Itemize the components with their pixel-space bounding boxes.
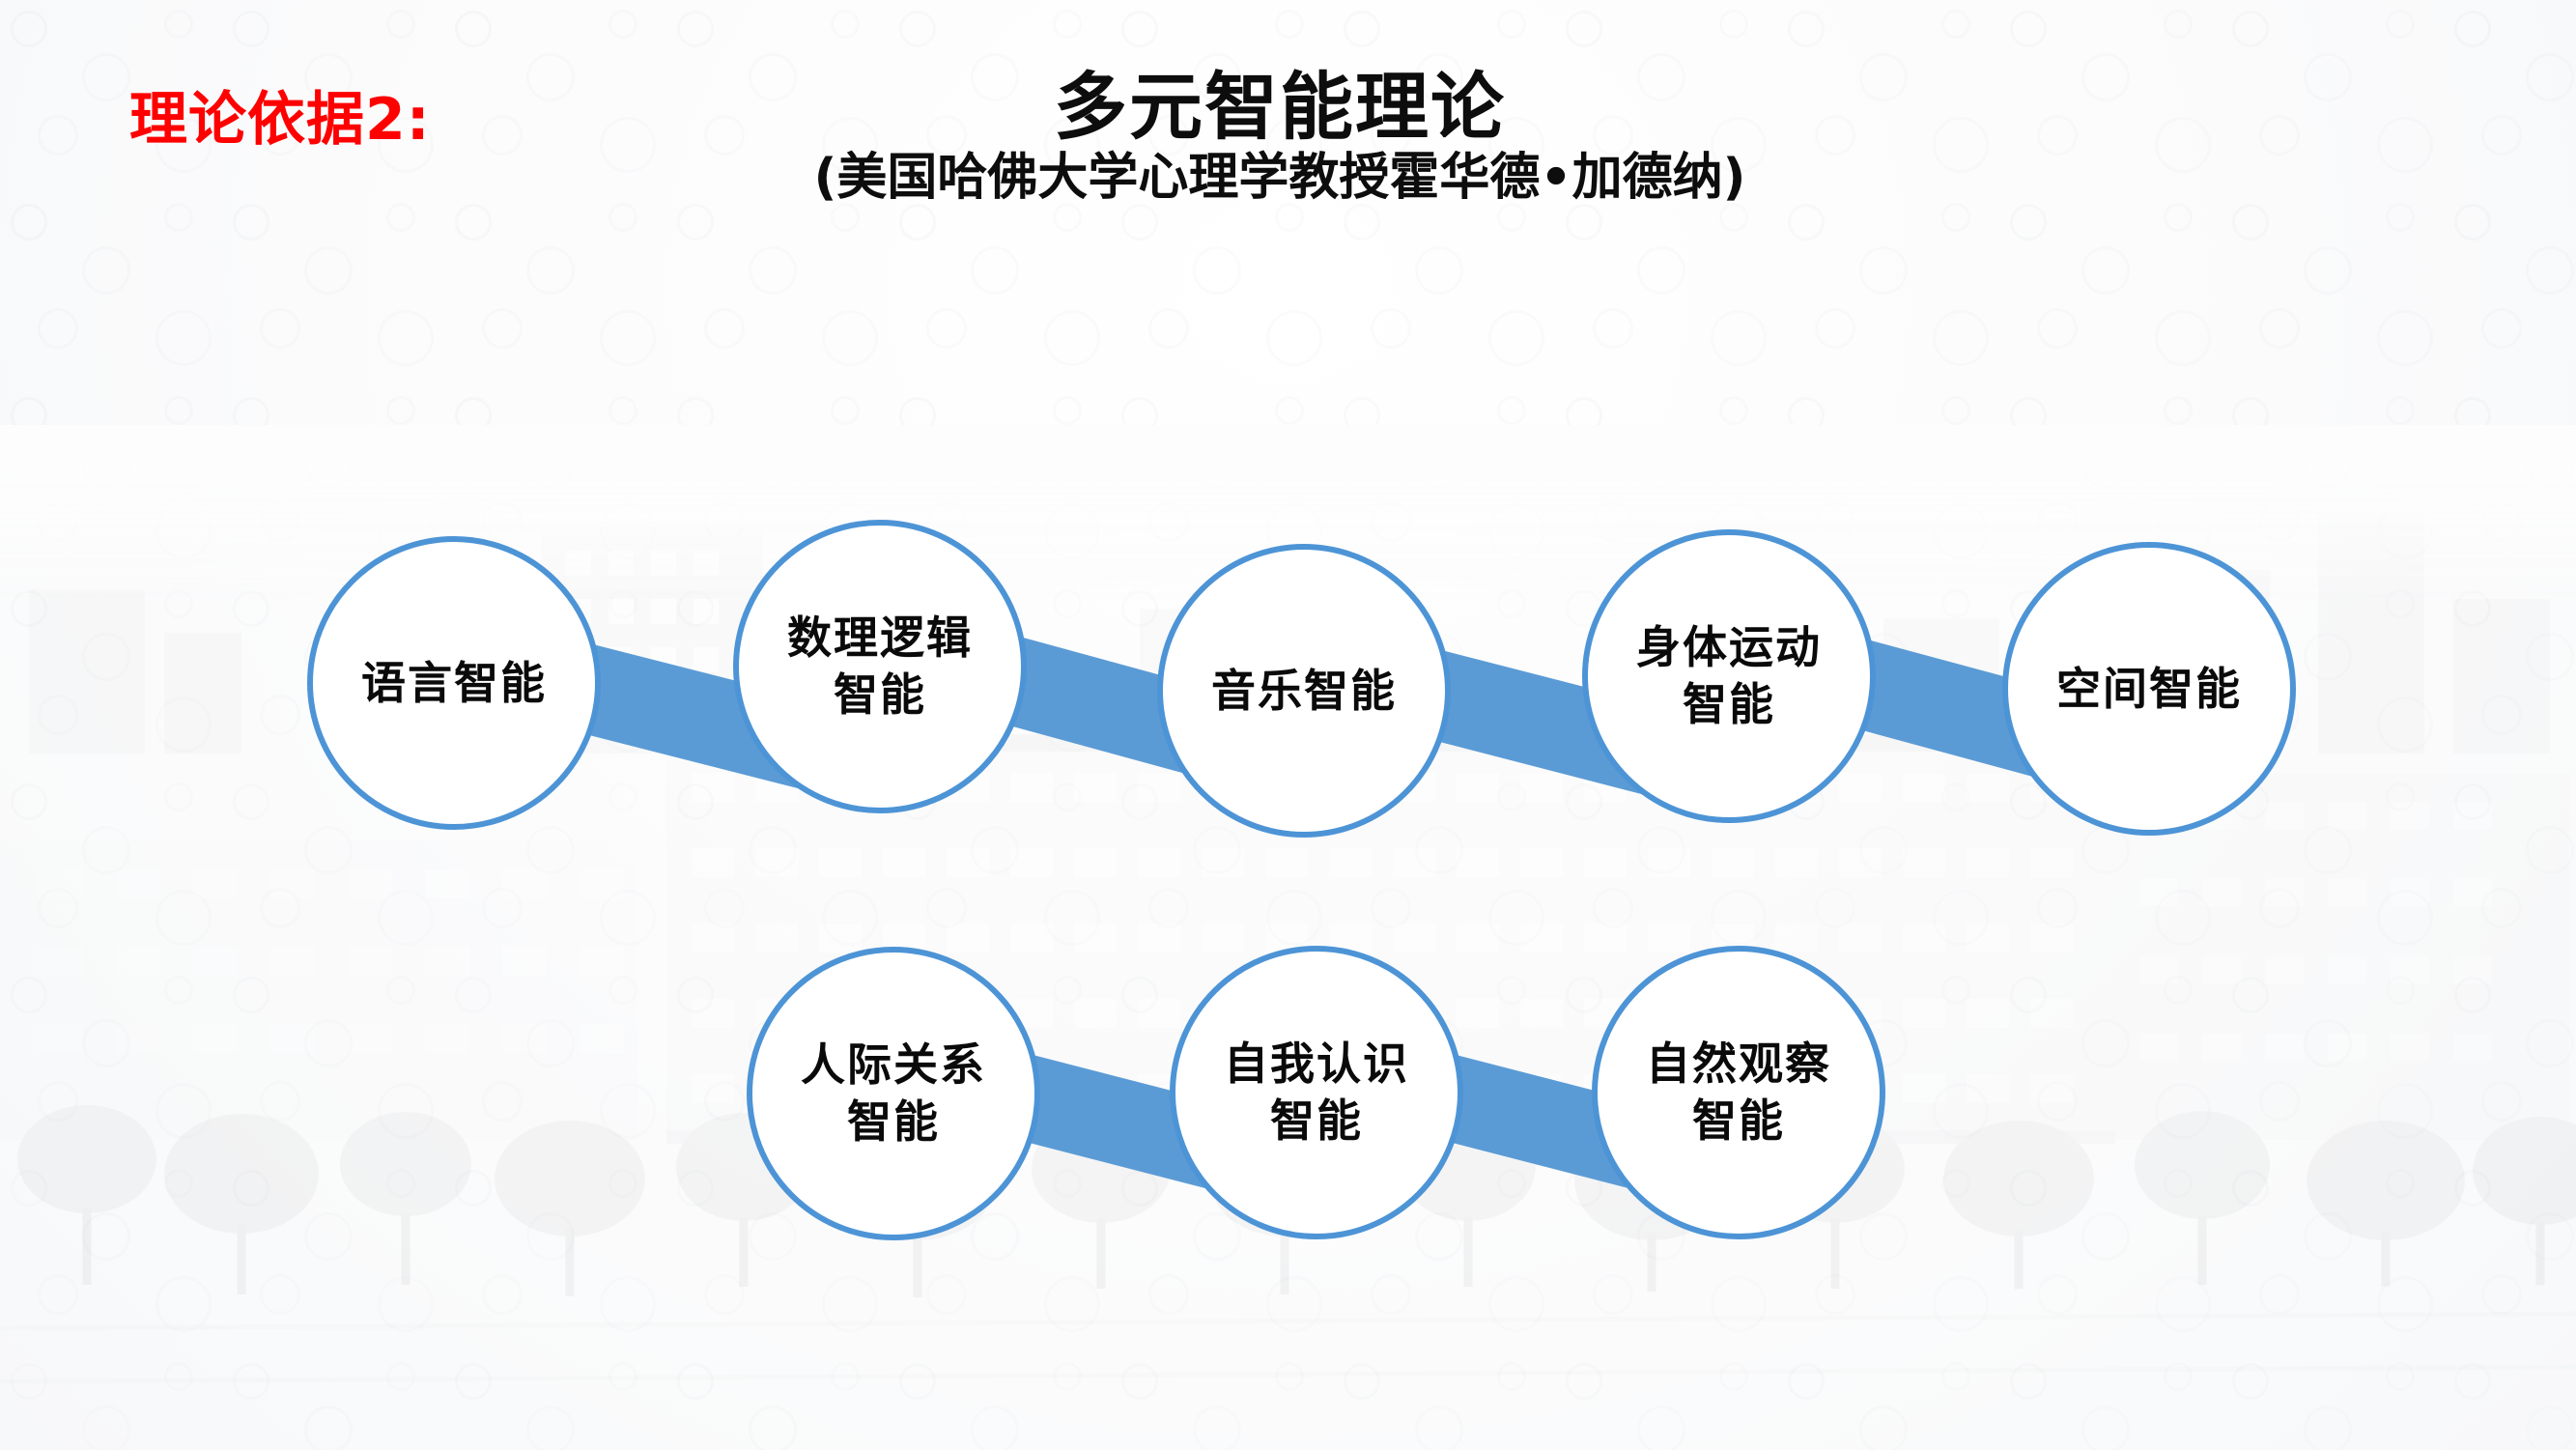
- intelligence-node-label: 语言智能: [348, 655, 560, 712]
- intelligence-node-logical-math[interactable]: 数理逻辑 智能: [733, 520, 1027, 813]
- intelligence-node-label: 自然观察 智能: [1632, 1036, 1845, 1150]
- intelligence-node-intrapersonal[interactable]: 自我认识 智能: [1170, 946, 1463, 1239]
- intelligence-node-linguistic[interactable]: 语言智能: [307, 536, 601, 830]
- intelligence-node-label: 自我认识 智能: [1210, 1036, 1423, 1150]
- multiple-intelligences-diagram: 语言智能 数理逻辑 智能 音乐智能 身体运动 智能 空间智能 人际关系 智能 自…: [0, 0, 2576, 1450]
- intelligence-node-spatial[interactable]: 空间智能: [2002, 542, 2296, 836]
- intelligence-node-naturalist[interactable]: 自然观察 智能: [1592, 946, 1885, 1239]
- intelligence-node-musical[interactable]: 音乐智能: [1157, 544, 1451, 838]
- slide-canvas: 理论依据2: 多元智能理论 (美国哈佛大学心理学教授霍华德•加德纳): [0, 0, 2576, 1450]
- intelligence-node-label: 数理逻辑 智能: [774, 610, 986, 724]
- intelligence-node-interpersonal[interactable]: 人际关系 智能: [747, 947, 1040, 1240]
- intelligence-node-label: 音乐智能: [1198, 663, 1410, 720]
- intelligence-node-label: 身体运动 智能: [1623, 619, 1835, 733]
- intelligence-node-label: 空间智能: [2043, 661, 2255, 718]
- intelligence-node-label: 人际关系 智能: [787, 1037, 1000, 1151]
- intelligence-node-bodily[interactable]: 身体运动 智能: [1582, 529, 1876, 823]
